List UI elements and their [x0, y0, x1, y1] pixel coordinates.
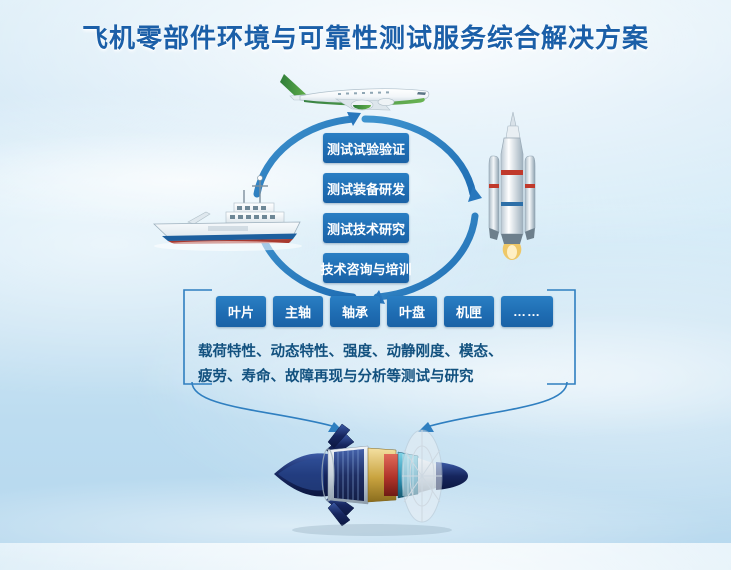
- component-chip-1[interactable]: 主轴: [273, 296, 323, 327]
- service-pill-0[interactable]: 测试试验验证: [323, 133, 409, 163]
- service-pill-list: 测试试验验证 测试装备研发 测试技术研究 技术咨询与培训: [323, 133, 409, 293]
- component-chip-list: 叶片 主轴 轴承 叶盘 机匣 ……: [216, 296, 553, 327]
- airplane-illustration: [278, 66, 438, 122]
- turbofan-engine-cutaway-illustration: [272, 404, 472, 536]
- component-chip-0[interactable]: 叶片: [216, 296, 266, 327]
- component-chip-2[interactable]: 轴承: [330, 296, 380, 327]
- page-title: 飞机零部件环境与可靠性测试服务综合解决方案: [0, 18, 731, 55]
- component-chip-5[interactable]: ……: [501, 296, 553, 327]
- service-pill-1[interactable]: 测试装备研发: [323, 173, 409, 203]
- launch-rocket-illustration: [470, 110, 556, 260]
- service-pill-3[interactable]: 技术咨询与培训: [323, 253, 409, 283]
- caption-line-1: 载荷特性、动态特性、强度、动静刚度、模态、: [198, 340, 570, 365]
- component-chip-3[interactable]: 叶盘: [387, 296, 437, 327]
- component-chip-4[interactable]: 机匣: [444, 296, 494, 327]
- research-vessel-illustration: [148, 164, 318, 254]
- service-pill-2[interactable]: 测试技术研究: [323, 213, 409, 243]
